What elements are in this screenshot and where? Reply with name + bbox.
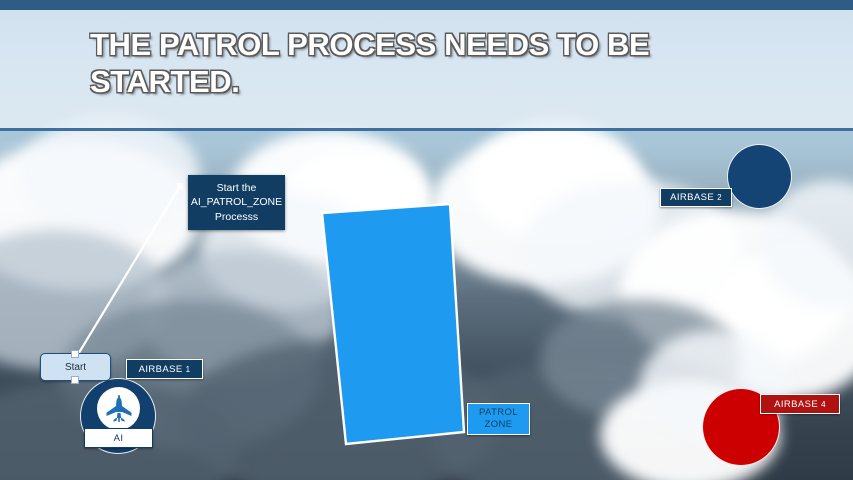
callout-line-1: Start the (217, 181, 257, 195)
airbase-2-circle[interactable] (727, 144, 792, 209)
patrol-zone-label-line-2: ZONE (485, 419, 513, 431)
ai-node-label[interactable]: AI (84, 428, 153, 448)
airbase-4-label[interactable]: AIRBASE 4 (760, 394, 840, 414)
airbase-1-label[interactable]: AIRBASE 1 (126, 359, 203, 379)
ai-node-label-text: AI (114, 433, 124, 444)
callout-line-3: Processs (215, 210, 258, 224)
callout-line-2: AI_PATROL_ZONE (191, 195, 282, 209)
airbase-4-label-text: AIRBASE (774, 399, 818, 410)
fighter-jet-icon (97, 387, 140, 430)
process-callout-box[interactable]: Start the AI_PATROL_ZONE Processs (188, 175, 285, 230)
selection-handle-bottom[interactable] (71, 376, 79, 384)
top-accent-strip (0, 0, 853, 10)
airbase-4-label-number: 4 (821, 400, 826, 409)
airbase-2-label-number: 2 (717, 193, 722, 202)
selection-handle-top[interactable] (71, 350, 79, 358)
airbase-2-label-text: AIRBASE (670, 192, 714, 203)
patrol-zone-label-line-1: PATROL (479, 407, 518, 419)
slide-canvas: THE PATROL PROCESS NEEDS TO BE STARTED. … (0, 0, 853, 480)
page-title: THE PATROL PROCESS NEEDS TO BE STARTED. (90, 27, 790, 100)
airbase-1-label-number: 1 (186, 365, 191, 374)
airbase-1-label-text: AIRBASE (139, 364, 183, 375)
start-button-label: Start (65, 362, 86, 373)
airbase-2-label[interactable]: AIRBASE 2 (660, 188, 732, 207)
patrol-zone-label[interactable]: PATROL ZONE (467, 403, 530, 435)
